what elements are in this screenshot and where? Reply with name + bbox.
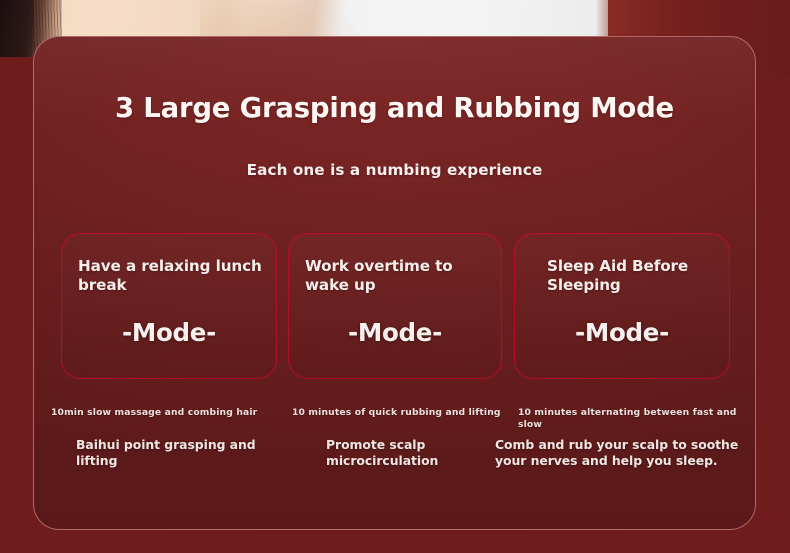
mode-card-2-title: Work overtime to wake up xyxy=(305,257,491,296)
mode-caption-2-duration: 10 minutes of quick rubbing and lifting xyxy=(292,407,527,419)
promo-banner: 3 Large Grasping and Rubbing Mode Each o… xyxy=(0,0,790,553)
mode-caption-1-benefit: Baihui point grasping and lifting xyxy=(76,437,298,469)
mode-card-1-mode-label: -Mode- xyxy=(62,318,276,347)
page-subtitle: Each one is a numbing experience xyxy=(34,161,755,179)
mode-card-1[interactable]: Have a relaxing lunch break -Mode- xyxy=(61,233,277,379)
mode-card-3-mode-label: -Mode- xyxy=(515,318,729,347)
mode-card-3-title: Sleep Aid Before Sleeping xyxy=(547,257,719,296)
mode-caption-1-duration: 10min slow massage and combing hair xyxy=(51,407,298,419)
mode-card-list: Have a relaxing lunch break -Mode- Work … xyxy=(61,233,730,379)
mode-caption-3-duration: 10 minutes alternating between fast and … xyxy=(518,407,744,431)
page-title: 3 Large Grasping and Rubbing Mode xyxy=(34,92,755,124)
mode-card-2-mode-label: -Mode- xyxy=(289,318,501,347)
content-panel: 3 Large Grasping and Rubbing Mode Each o… xyxy=(33,36,756,530)
mode-caption-3-benefit: Comb and rub your scalp to soothe your n… xyxy=(495,437,747,469)
mode-caption-list: 10min slow massage and combing hair Baih… xyxy=(34,407,756,517)
mode-card-3[interactable]: Sleep Aid Before Sleeping -Mode- xyxy=(514,233,730,379)
mode-card-1-title: Have a relaxing lunch break xyxy=(78,257,266,296)
mode-card-2[interactable]: Work overtime to wake up -Mode- xyxy=(288,233,502,379)
